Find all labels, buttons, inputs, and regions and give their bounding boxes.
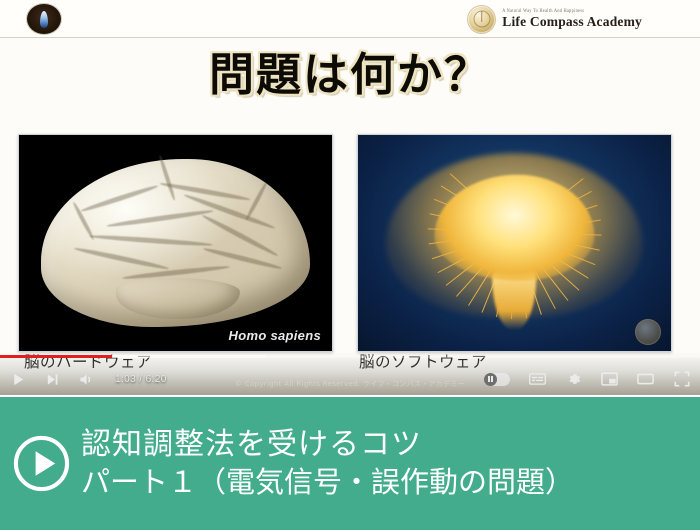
banner-text: 認知調整法を受けるコツ パート１（電気信号・誤作動の問題） — [81, 429, 574, 498]
flame-circle-logo — [27, 4, 61, 34]
banner-title-line2: パート１（電気信号・誤作動の問題） — [81, 467, 574, 498]
progress-scrubber[interactable] — [0, 355, 700, 358]
species-label: Homo sapiens — [229, 328, 321, 343]
brain-tractography-image — [386, 148, 643, 338]
copyright-text: © Copyright All Rights Reserved. ライフ・コンパ… — [0, 379, 700, 389]
flame-shape — [40, 11, 48, 28]
human-brain-specimen-image — [41, 159, 310, 327]
brain-software-panel — [357, 134, 672, 352]
page-title: 問題は何か？ — [0, 52, 700, 97]
brand-lockup: A Natural Way To Health And Happiness Li… — [468, 3, 642, 35]
academy-watermark-seal — [635, 319, 661, 345]
banner-title-line1: 認知調整法を受けるコツ — [81, 429, 574, 461]
video-player[interactable]: A Natural Way To Health And Happiness Li… — [0, 0, 700, 395]
academy-seal-icon — [468, 6, 495, 33]
brain-stem-shape — [116, 278, 240, 318]
brain-hardware-panel: Homo sapiens — [18, 134, 333, 352]
progress-buffered — [112, 355, 266, 358]
brand-tagline: A Natural Way To Health And Happiness — [502, 9, 642, 14]
brand-name: Life Compass Academy — [502, 15, 642, 29]
play-circle-icon[interactable] — [13, 435, 70, 492]
bottom-banner[interactable]: 認知調整法を受けるコツ パート１（電気信号・誤作動の問題） — [0, 397, 700, 530]
slide-header: A Natural Way To Health And Happiness Li… — [0, 0, 700, 38]
progress-played — [0, 355, 112, 358]
brand-text: A Natural Way To Health And Happiness Li… — [502, 9, 642, 29]
caption-brain-software: 脳のソフトウェア — [359, 350, 487, 372]
